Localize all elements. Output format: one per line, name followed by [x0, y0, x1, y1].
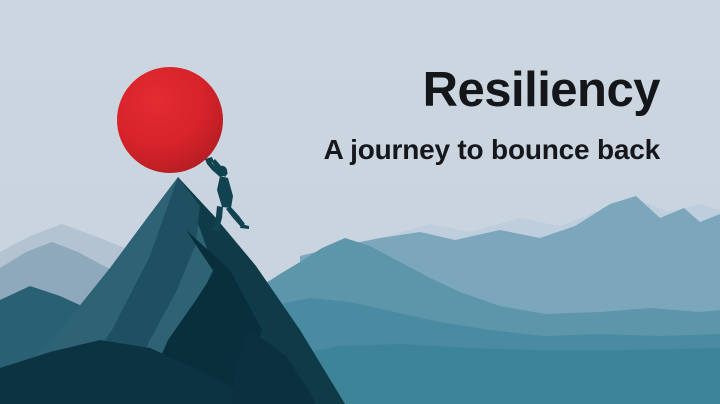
mountain-illustration — [0, 0, 720, 404]
foreground-teal-base — [290, 344, 720, 404]
poster-canvas: Resiliency A journey to bounce back — [0, 0, 720, 404]
red-boulder — [117, 67, 223, 173]
